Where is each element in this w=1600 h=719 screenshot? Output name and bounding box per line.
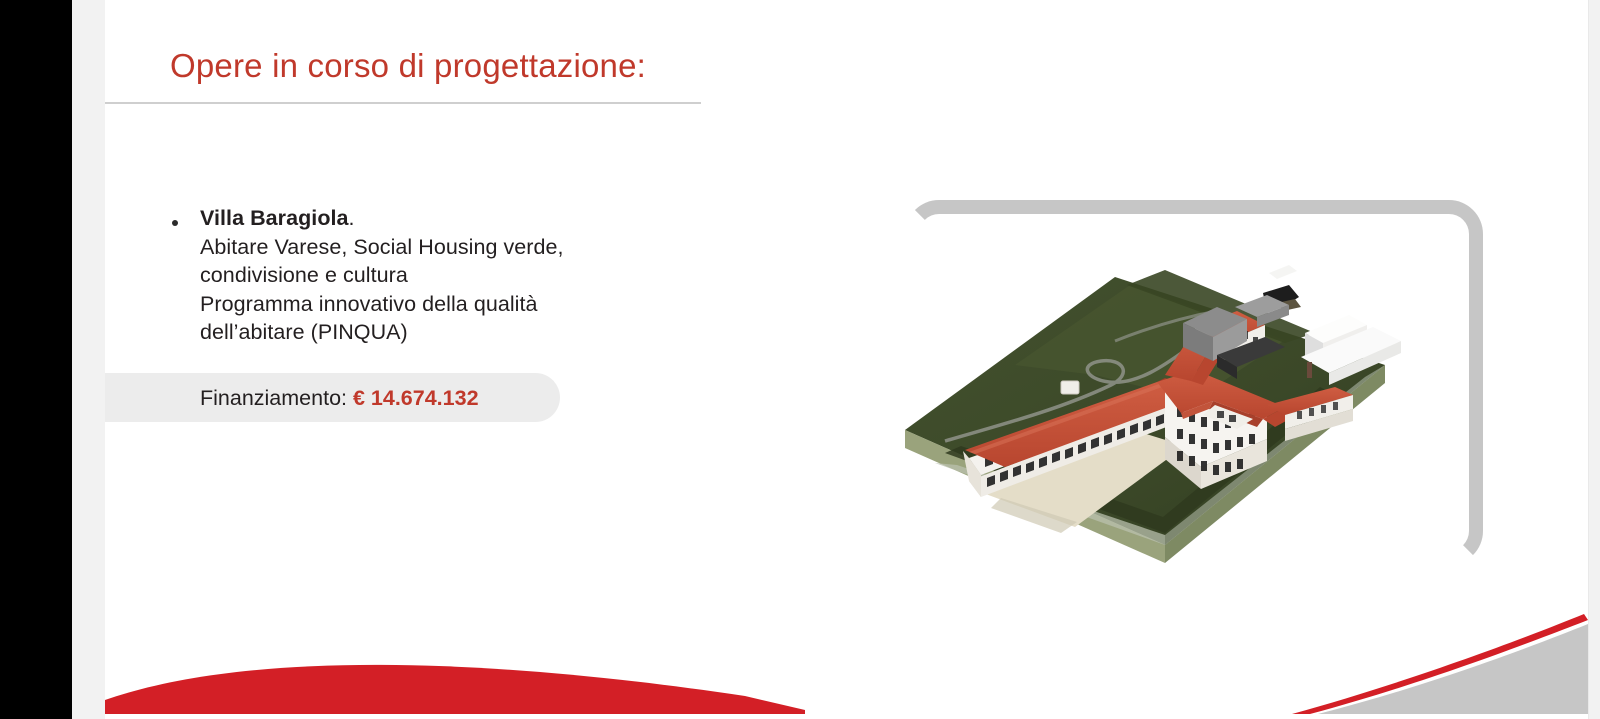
financing-label: Finanziamento: — [200, 386, 347, 410]
bullet-marker-icon — [172, 220, 178, 226]
bullet-line-3: condivisione e cultura — [200, 263, 408, 287]
bullet-list: Villa Baragiola. Abitare Varese, Social … — [165, 204, 725, 347]
page-title: Opere in corso di progettazione: — [170, 46, 646, 86]
viewer-left-gutter — [72, 0, 106, 719]
decor-red-arc-bottom-right — [1258, 604, 1588, 719]
project-rendering-image: Rendering 3D del progetto Villa Baragiol… — [865, 215, 1465, 585]
bullet-lead-suffix: . — [349, 206, 355, 230]
decor-red-swoosh-bottom-left — [105, 654, 805, 719]
title-divider — [105, 102, 701, 104]
bullet-lead-label: Villa Baragiola — [200, 206, 349, 230]
viewer-left-black-bar — [0, 0, 72, 719]
financing-text: Finanziamento: € 14.674.132 — [200, 383, 479, 413]
list-item: Villa Baragiola. Abitare Varese, Social … — [200, 204, 725, 347]
bullet-line-4: Programma innovativo della qualità — [200, 292, 538, 316]
bullet-line-2: Abitare Varese, Social Housing verde, — [200, 235, 564, 259]
slide-canvas: Opere in corso di progettazione: Villa B… — [105, 0, 1588, 719]
viewer-right-gutter — [1588, 0, 1600, 719]
financing-amount: € 14.674.132 — [353, 386, 479, 410]
bullet-line-5: dell’abitare (PINQUA) — [200, 320, 408, 344]
presentation-viewer: Opere in corso di progettazione: Villa B… — [0, 0, 1600, 719]
